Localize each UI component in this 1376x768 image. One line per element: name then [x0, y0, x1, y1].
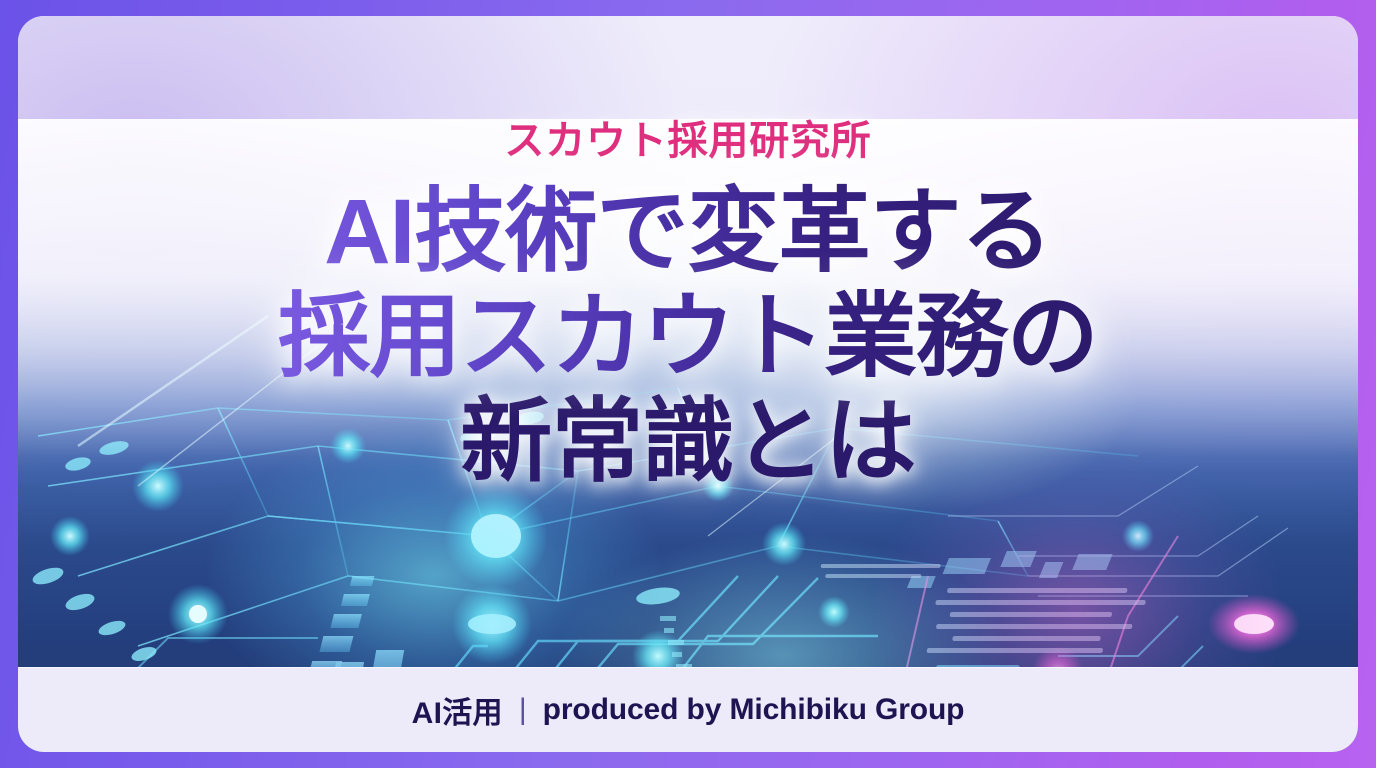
page-title: AI技術で変革する 採用スカウト業務の 新常識とは [278, 180, 1098, 495]
footer-credit-label: produced by Michibiku Group [543, 693, 965, 727]
headline-line-2: 採用スカウト業務の [278, 285, 1098, 390]
footer-separator: | [519, 693, 527, 727]
footer-bar: AI活用 | produced by Michibiku Group [18, 667, 1358, 752]
headline-line-1: AI技術で変革する [278, 180, 1098, 285]
footer-category-label: AI活用 [412, 688, 503, 732]
headline-line-3: 新常識とは [278, 390, 1098, 495]
eyebrow-label: スカウト採用研究所 [504, 108, 871, 166]
hero-content: スカウト採用研究所 AI技術で変革する 採用スカウト業務の 新常識とは [18, 16, 1358, 752]
outer-gradient-frame: スカウト採用研究所 AI技術で変革する 採用スカウト業務の 新常識とは AI活用… [0, 0, 1376, 768]
hero-card: スカウト採用研究所 AI技術で変革する 採用スカウト業務の 新常識とは AI活用… [18, 16, 1358, 752]
